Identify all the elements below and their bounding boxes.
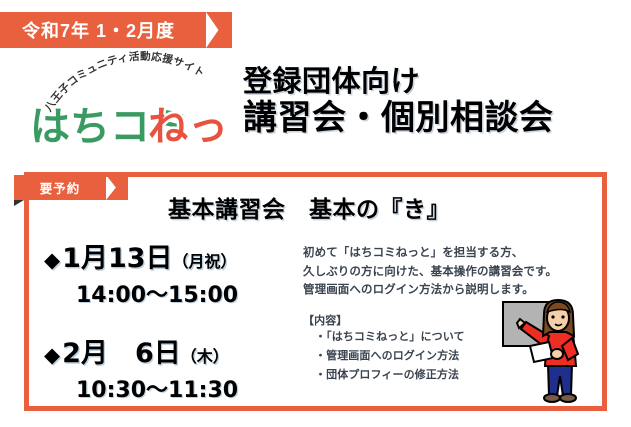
- pants-shape: [548, 364, 572, 396]
- description-line: 久しぶりの方に向けた、基本操作の講習会です。: [303, 262, 593, 281]
- period-banner-tail: [206, 12, 232, 48]
- schedule-item-date-row: ◆ 2月 6日 （木）: [44, 331, 294, 370]
- reservation-badge-fold: [14, 200, 24, 206]
- schedule-item: ◆ 1月13日 （月祝） 14:00〜15:00: [44, 236, 294, 309]
- logo-wordmark: はちコミ ねっと: [30, 100, 235, 152]
- logo-text-orange: ねっと: [148, 104, 235, 150]
- section-heading: 基本講習会 基本の『き』: [168, 190, 450, 224]
- eye-left-shape: [551, 315, 554, 318]
- flyer-canvas: 令和7年 1・2月度 八王子コミュニティ活動応援サイト はちコミ ねっと 登録団…: [0, 0, 631, 427]
- site-logo: 八王子コミュニティ活動応援サイト はちコミ ねっと: [30, 82, 235, 152]
- diamond-bullet-icon: ◆: [44, 345, 60, 366]
- instructor-illustration: [500, 296, 610, 408]
- page-title-line-1: 登録団体向け: [243, 66, 623, 97]
- schedule-item: ◆ 2月 6日 （木） 10:30〜11:30: [44, 331, 294, 404]
- description-line: 初めて「はちコミねっと」を担当する方、: [303, 243, 593, 262]
- shoe-right-shape: [560, 394, 576, 402]
- schedule-item-time: 10:30〜11:30: [76, 372, 294, 404]
- schedule-item-date: 1月13日: [62, 236, 172, 275]
- schedule-item-date: 2月 6日: [62, 331, 181, 370]
- period-banner-label: 令和7年 1・2月度: [22, 17, 175, 43]
- hand-holding-shape: [551, 349, 563, 359]
- eye-right-shape: [561, 315, 564, 318]
- schedule-item-weekday: （木）: [181, 343, 229, 367]
- schedule-item-weekday: （月祝）: [173, 248, 237, 272]
- page-title: 登録団体向け 講習会・個別相談会: [243, 66, 623, 137]
- papers-shape: [530, 342, 553, 362]
- diamond-bullet-icon: ◆: [44, 250, 60, 271]
- logo-wordmark-graphic: はちコミ ねっと: [30, 100, 235, 152]
- shoe-left-shape: [544, 394, 560, 402]
- schedule-list: ◆ 1月13日 （月祝） 14:00〜15:00 ◆ 2月 6日 （木） 10:…: [44, 236, 294, 404]
- period-banner: 令和7年 1・2月度: [0, 12, 206, 48]
- reservation-badge-label: 要予約: [40, 178, 81, 197]
- reservation-badge: 要予約: [14, 175, 106, 200]
- schedule-item-time: 14:00〜15:00: [76, 277, 294, 309]
- page-title-line-2: 講習会・個別相談会: [243, 100, 623, 137]
- instructor-illustration-graphic: [500, 296, 610, 408]
- schedule-item-date-row: ◆ 1月13日 （月祝）: [44, 236, 294, 275]
